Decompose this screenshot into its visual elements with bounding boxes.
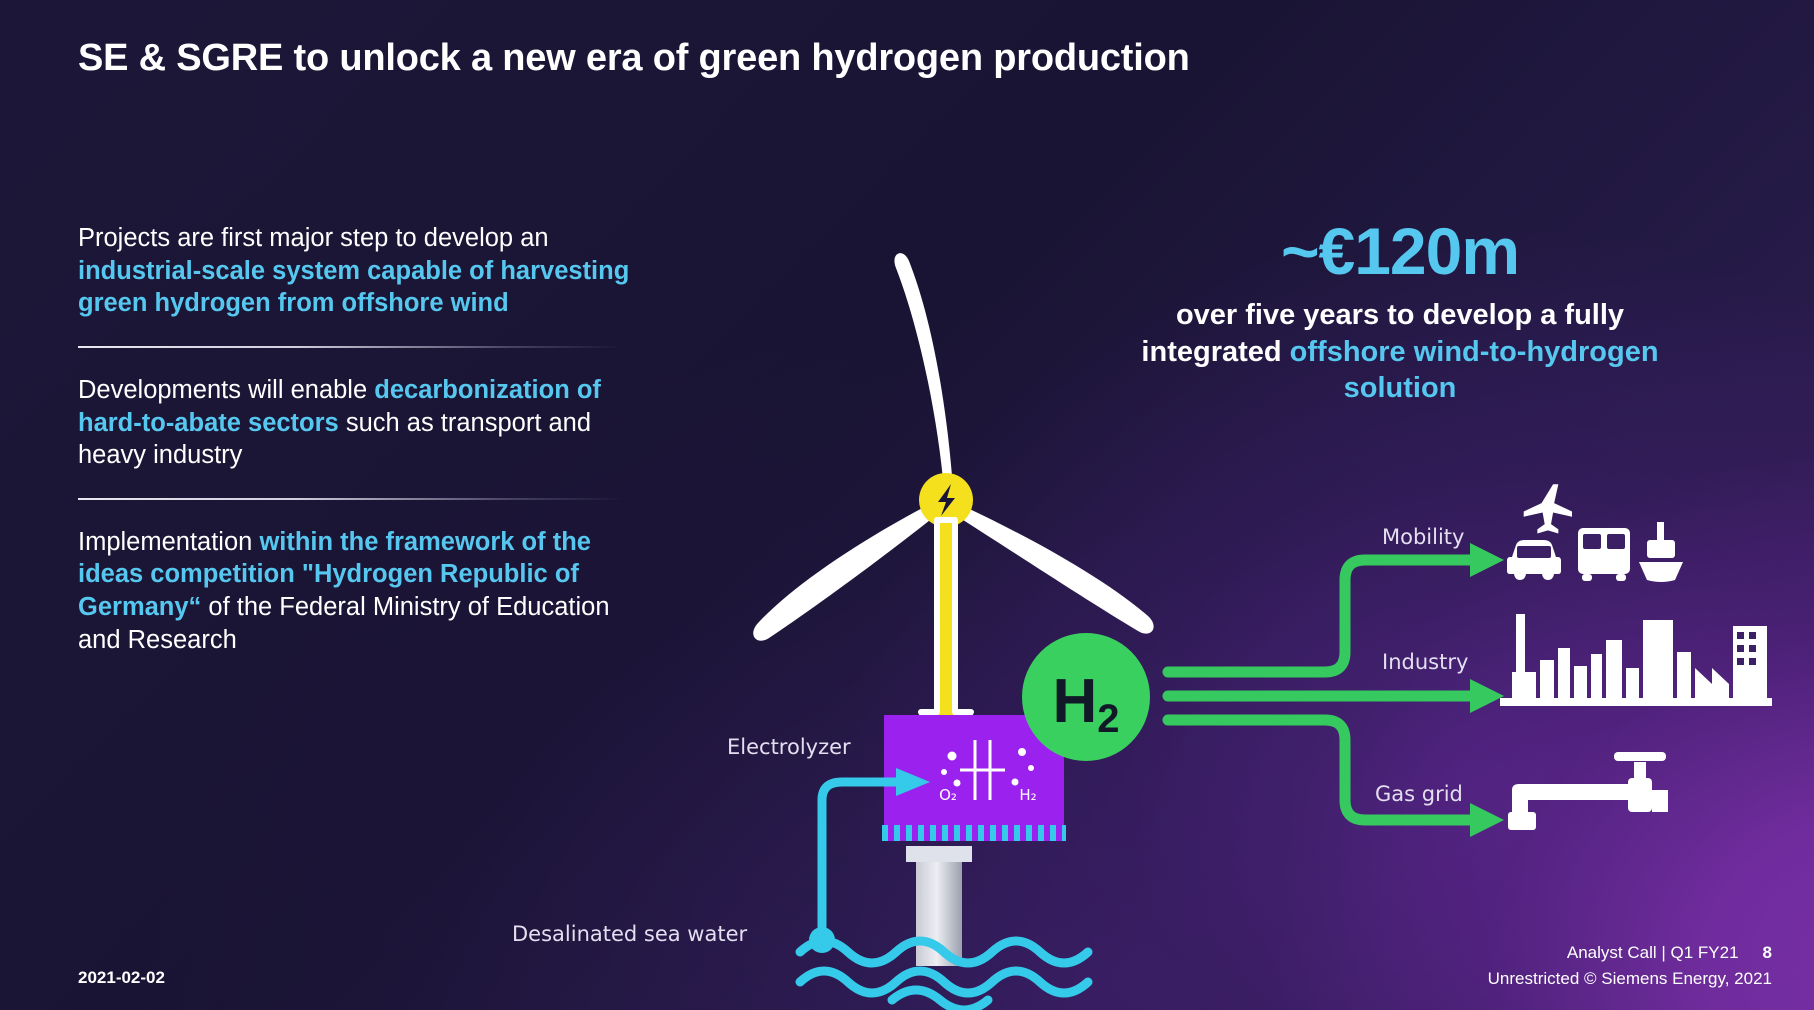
arrowhead-seawater xyxy=(896,768,930,796)
bullet-item-3: Implementation within the framework of t… xyxy=(78,526,638,657)
bullet-1-plain-lead: Projects are first major step to develop… xyxy=(78,224,549,252)
h2-label: H2 xyxy=(1052,667,1119,741)
pipe-arrowheads xyxy=(1470,543,1504,837)
car-icon xyxy=(1507,540,1561,580)
footer-copyright: Unrestricted © Siemens Energy, 2021 xyxy=(1488,966,1772,992)
bullet-1-highlight: industrial-scale system capable of harve… xyxy=(78,257,629,318)
output-label-gas-grid: Gas grid xyxy=(1375,782,1463,806)
bullet-item-1: Projects are first major step to develop… xyxy=(78,222,638,320)
investment-description: over five years to develop a fully integ… xyxy=(1110,297,1690,407)
seawater-intake-pipe xyxy=(822,782,900,935)
gas-valve-pipe-icon xyxy=(1508,752,1668,830)
electrolyzer-cell-stack xyxy=(960,740,1005,800)
turbine-hub xyxy=(919,473,973,527)
electrolyzer-label: Electrolyzer xyxy=(727,735,851,759)
ship-icon xyxy=(1639,522,1683,582)
slide-root: O₂ H₂ H2 xyxy=(0,0,1814,1010)
turbine-foundation xyxy=(906,846,972,966)
footer-date: 2021-02-02 xyxy=(78,968,165,988)
bullet-3-plain-lead: Implementation xyxy=(78,528,259,556)
bullet-2-plain-lead: Developments will enable xyxy=(78,376,374,404)
wind-turbine xyxy=(753,253,1153,730)
investment-amount: ~€120m xyxy=(1110,218,1690,285)
bus-icon xyxy=(1578,528,1630,581)
section-divider-1 xyxy=(78,346,623,348)
section-divider-2 xyxy=(78,498,623,500)
investment-callout: ~€120m over five years to develop a full… xyxy=(1110,218,1690,407)
output-label-industry: Industry xyxy=(1382,650,1468,674)
power-arrow xyxy=(921,520,971,752)
electrolyzer-unit: O₂ H₂ xyxy=(882,715,1066,841)
electrolyzer-o2-label: O₂ xyxy=(939,786,957,804)
footer-event-line: Analyst Call | Q1 FY218 xyxy=(1488,940,1772,966)
electrolyzer-bubbles xyxy=(941,748,1034,787)
footer-event: Analyst Call | Q1 FY21 xyxy=(1567,943,1739,962)
turbine-blade-right xyxy=(944,499,1154,634)
hydrogen-bubble: H2 xyxy=(1022,633,1150,761)
airplane-icon xyxy=(1524,484,1572,533)
electrolyzer-base-teeth xyxy=(888,825,1062,841)
footer-meta: Analyst Call | Q1 FY218 Unrestricted © S… xyxy=(1488,940,1772,993)
electrolyzer-h2-label: H₂ xyxy=(1019,786,1036,804)
lightning-bolt-icon xyxy=(938,484,955,516)
page-title: SE & SGRE to unlock a new era of green h… xyxy=(78,36,1578,82)
desalinated-sea-water-label: Desalinated sea water xyxy=(512,922,747,946)
output-label-mobility: Mobility xyxy=(1382,525,1464,549)
key-points-list: Projects are first major step to develop… xyxy=(78,222,638,656)
arrowhead-gas-grid xyxy=(1470,803,1504,837)
electrolyzer-base-band xyxy=(882,825,1066,841)
mobility-icon-group xyxy=(1507,484,1683,582)
water-droplet-icon xyxy=(809,927,835,953)
page-number: 8 xyxy=(1763,940,1772,966)
arrowhead-mobility xyxy=(1470,543,1504,577)
turbine-blade-up xyxy=(894,253,953,490)
hydrogen-distribution-pipes xyxy=(1168,560,1475,820)
electrolyzer-box xyxy=(884,715,1064,825)
sea-waves xyxy=(800,941,1088,1010)
factory-icon xyxy=(1500,614,1772,706)
callout-highlight: offshore wind-to-hydrogen solution xyxy=(1290,336,1659,405)
bullet-item-2: Developments will enable decarbonization… xyxy=(78,374,638,472)
arrowhead-industry xyxy=(1470,679,1504,713)
turbine-blade-left xyxy=(753,499,944,641)
